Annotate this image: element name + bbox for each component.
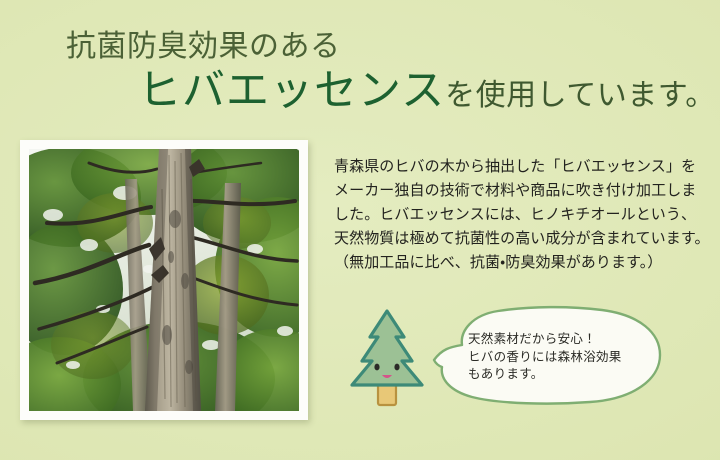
tree-foliage-shape xyxy=(352,311,422,385)
body-copy-line: （無加工品に比べ、抗菌・防臭効果があります。） xyxy=(334,251,712,275)
speech-bubble-text: 天然素材だから安心！ ヒバの香りには森林浴効果 もあります。 xyxy=(468,331,658,384)
headline-line-1: 抗菌防臭効果のある xyxy=(66,30,341,64)
speech-bubble: 天然素材だから安心！ ヒバの香りには森林浴効果 もあります。 xyxy=(420,305,665,405)
hiba-tree-photo xyxy=(29,149,299,411)
hiba-tree-photo-illustration xyxy=(29,149,299,411)
tree-eye-left xyxy=(374,364,379,371)
headline-line-2: ヒバエッセンスを使用しています。 xyxy=(138,68,716,120)
tree-eye-right xyxy=(394,364,399,371)
body-copy-line: した。ヒバエッセンスには、ヒノキチオールという、 xyxy=(334,203,712,227)
photo-frame xyxy=(20,140,308,420)
tree-mascot-icon xyxy=(344,305,430,410)
body-copy: 青森県のヒバの木から抽出した「ヒバエッセンス」を メーカー独自の技術で材料や商品… xyxy=(334,155,712,275)
body-copy-line: メーカー独自の技術で材料や商品に吹き付け加工しま xyxy=(334,179,712,203)
promo-banner: 抗菌防臭効果のある ヒバエッセンスを使用しています。 xyxy=(0,0,720,460)
speech-bubble-line: ヒバの香りには森林浴効果 xyxy=(468,349,658,367)
speech-bubble-line: もあります。 xyxy=(468,366,658,384)
body-copy-line: 天然物質は極めて抗菌性の高い成分が含まれています。 xyxy=(334,227,712,251)
headline-suffix: を使用しています。 xyxy=(445,79,716,112)
speech-bubble-line: 天然素材だから安心！ xyxy=(468,331,658,349)
headline-product-name: ヒバエッセンス xyxy=(138,68,445,115)
body-copy-line: 青森県のヒバの木から抽出した「ヒバエッセンス」を xyxy=(334,155,712,179)
tree-mascot xyxy=(344,305,430,410)
